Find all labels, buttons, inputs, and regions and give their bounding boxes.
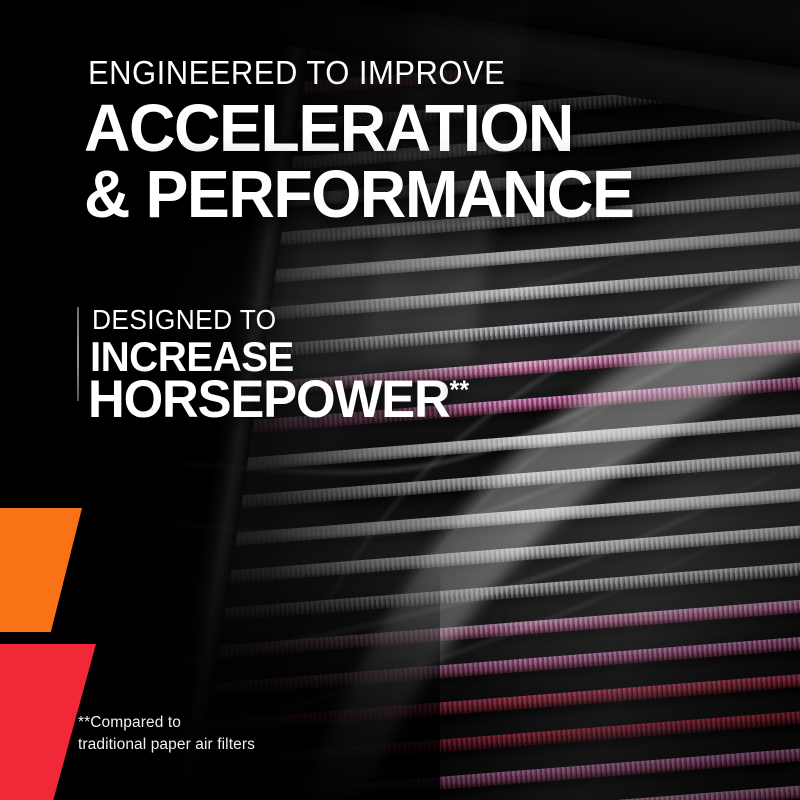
headline-line-1: ACCELERATION: [84, 91, 573, 166]
footnote-line-2: traditional paper air filters: [78, 734, 255, 756]
headline-line-2: & PERFORMANCE: [84, 162, 633, 228]
subhead-line-2-text: HORSEPOWER: [88, 370, 450, 429]
subhead-line-2: HORSEPOWER**: [88, 373, 469, 426]
headline-eyebrow: ENGINEERED TO IMPROVE: [88, 56, 505, 89]
footnote-marker: **: [450, 374, 469, 404]
subhead-eyebrow: DESIGNED TO: [92, 306, 277, 334]
promo-banner: ENGINEERED TO IMPROVE ACCELERATION & PER…: [0, 0, 800, 800]
main-headline: ACCELERATION & PERFORMANCE: [84, 96, 633, 227]
footnote-line-1: **Compared to: [78, 712, 255, 734]
vertical-accent-rule: [77, 307, 79, 401]
footnote: **Compared to traditional paper air filt…: [78, 712, 255, 756]
